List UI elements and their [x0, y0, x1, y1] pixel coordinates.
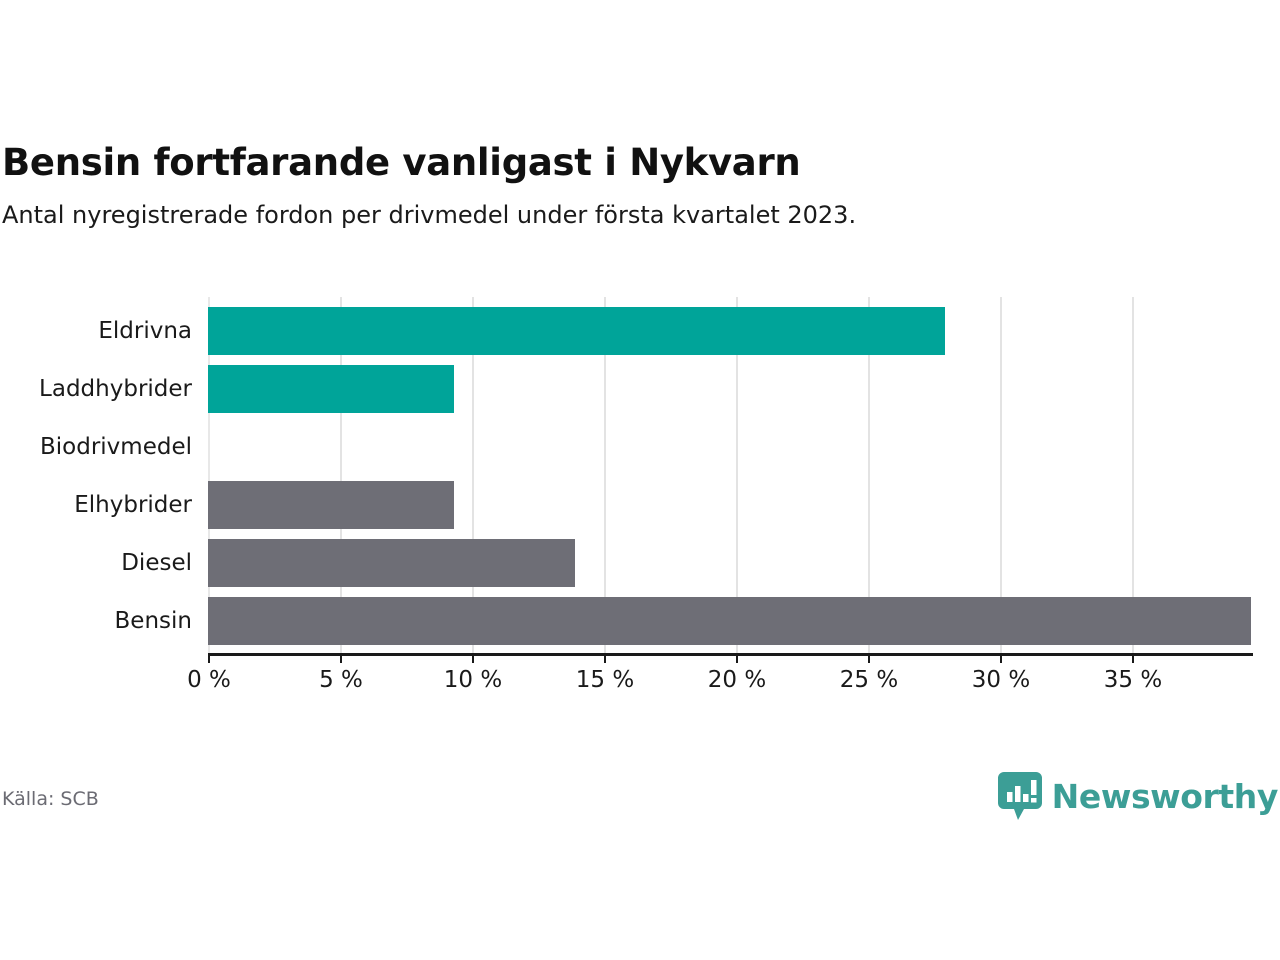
x-axis-tick-label: 0 % [187, 666, 231, 694]
x-axis-tick-label: 10 % [444, 666, 502, 694]
y-axis-label-bensin: Bensin [0, 607, 192, 635]
x-axis-tick [1000, 653, 1002, 663]
plot-area [208, 297, 1252, 653]
y-axis-label-eldrivna: Eldrivna [0, 317, 192, 345]
bar-elhybrider[interactable] [208, 481, 454, 529]
x-axis-tick [736, 653, 738, 663]
x-axis-tick [472, 653, 474, 663]
page-title: Bensin fortfarande vanligast i Nykvarn [2, 140, 1280, 186]
chart-header: Bensin fortfarande vanligast i Nykvarn A… [0, 140, 1280, 230]
x-axis-line [208, 653, 1253, 656]
x-axis-tick-label: 35 % [1104, 666, 1162, 694]
x-axis-tick [208, 653, 210, 663]
y-axis-label-diesel: Diesel [0, 549, 192, 577]
x-axis-tick-label: 5 % [319, 666, 363, 694]
x-axis-tick [868, 653, 870, 663]
chart-subtitle: Antal nyregistrerade fordon per drivmede… [2, 200, 1280, 230]
x-axis-tick-label: 30 % [972, 666, 1030, 694]
y-axis-label-laddhybrider: Laddhybrider [0, 375, 192, 403]
bar-laddhybrider[interactable] [208, 365, 454, 413]
bar-bensin[interactable] [208, 597, 1251, 645]
x-axis-tick [1132, 653, 1134, 663]
bar-diesel[interactable] [208, 539, 575, 587]
source-note: Källa: SCB [2, 787, 99, 811]
newsworthy-logo[interactable]: Newsworthy [998, 770, 1278, 824]
logo-wordmark: Newsworthy [1052, 778, 1278, 816]
x-axis-tick [340, 653, 342, 663]
y-axis-label-biodrivmedel: Biodrivmedel [0, 433, 192, 461]
newsworthy-bar-chart-speech-bubble-icon [998, 772, 1042, 822]
x-axis-tick-label: 25 % [840, 666, 898, 694]
chart-footer: Källa: SCB Newsworthy [0, 770, 1280, 830]
bar-eldrivna[interactable] [208, 307, 945, 355]
x-axis-tick-label: 20 % [708, 666, 766, 694]
x-axis-tick [604, 653, 606, 663]
bar-chart: EldrivnaLaddhybriderBiodrivmedelElhybrid… [0, 290, 1280, 690]
x-axis-tick-label: 15 % [576, 666, 634, 694]
y-axis-label-elhybrider: Elhybrider [0, 491, 192, 519]
